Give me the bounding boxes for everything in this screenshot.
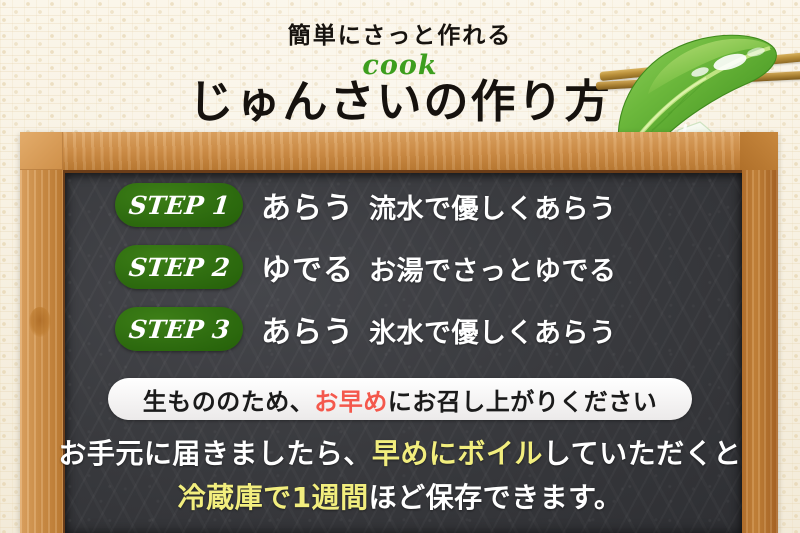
step-badge-label: STEP 3 xyxy=(127,315,231,344)
storage-line2-highlight: 冷蔵庫で1週間 xyxy=(178,481,369,514)
recipe-infographic: 簡単にさっと作れる cook じゅんさいの作り方 xyxy=(0,0,800,533)
step-row: STEP 1 あらう 流水で優しくあらう xyxy=(115,183,617,227)
storage-line1-after: していただくと xyxy=(543,437,742,470)
frame-top-rail xyxy=(20,132,778,170)
storage-line2-after: ほど保存できます。 xyxy=(369,481,623,514)
wood-knot xyxy=(29,307,51,337)
step-badge: STEP 2 xyxy=(115,245,243,289)
storage-line1-before: お手元に届きましたら、 xyxy=(58,437,372,470)
step-row: STEP 3 あらう 氷水で優しくあらう xyxy=(115,307,617,351)
notice-text-after: にお召し上がりください xyxy=(388,388,658,416)
step-action-label: あらう xyxy=(261,183,354,227)
storage-note: お手元に届きましたら、早めにボイルしていただくと 冷蔵庫で1週間ほど保存できます… xyxy=(0,432,800,520)
step-text: ゆでる お湯でさっとゆでる xyxy=(261,245,617,289)
storage-note-line: 冷蔵庫で1週間ほど保存できます。 xyxy=(0,476,800,520)
step-detail-label: 氷水で優しくあらう xyxy=(369,311,617,350)
step-badge-label: STEP 2 xyxy=(127,253,231,282)
step-action-label: ゆでる xyxy=(261,245,354,289)
step-badge: STEP 1 xyxy=(115,183,243,227)
freshness-notice-text: 生もののため、お早めにお召し上がりください xyxy=(143,382,658,417)
step-detail-label: お湯でさっとゆでる xyxy=(369,249,617,288)
step-text: あらう 流水で優しくあらう xyxy=(261,183,617,227)
notice-text-highlight: お早め xyxy=(314,388,388,416)
step-row: STEP 2 ゆでる お湯でさっとゆでる xyxy=(115,245,617,289)
step-badge-label: STEP 1 xyxy=(127,191,231,220)
storage-note-line: お手元に届きましたら、早めにボイルしていただくと xyxy=(0,432,800,476)
step-text: あらう 氷水で優しくあらう xyxy=(261,307,617,351)
step-detail-label: 流水で優しくあらう xyxy=(369,187,617,226)
storage-line1-highlight: 早めにボイル xyxy=(372,437,543,470)
notice-text-before: 生もののため、 xyxy=(143,388,315,416)
frame-corner-top-right xyxy=(740,132,778,170)
frame-corner-top-left xyxy=(20,132,63,170)
freshness-notice-pill: 生もののため、お早めにお召し上がりください xyxy=(108,378,692,420)
step-action-label: あらう xyxy=(261,307,354,351)
step-badge: STEP 3 xyxy=(115,307,243,351)
